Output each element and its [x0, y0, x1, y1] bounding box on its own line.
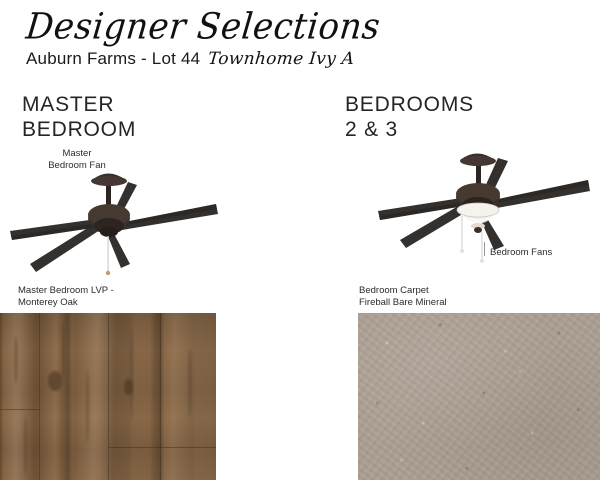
- callout-leader-line: [484, 242, 485, 256]
- page-header: Designer Selections Auburn Farms - Lot 4…: [0, 0, 600, 86]
- swatch-bedroom-carpet: [358, 313, 600, 480]
- caption-master-bedroom-lvp: Master Bedroom LVP - Monterey Oak: [18, 285, 114, 309]
- ceiling-fan-icon: [6, 160, 232, 275]
- caption-bedroom-carpet: Bedroom Carpet Fireball Bare Mineral: [359, 285, 447, 309]
- ceiling-fan-with-light-icon: [372, 142, 594, 264]
- page-title: Designer Selections: [24, 6, 382, 48]
- subtitle-community-lot: Auburn Farms - Lot 44: [26, 49, 200, 69]
- subtitle-row: Auburn Farms - Lot 44 Townhome Ivy A: [26, 49, 355, 69]
- section-heading-bedrooms-2-3: BEDROOMS 2 & 3: [345, 92, 474, 142]
- callout-bedroom-fans: Bedroom Fans: [490, 247, 552, 259]
- designer-selections-page: Designer Selections Auburn Farms - Lot 4…: [0, 0, 600, 480]
- subtitle-plan-name: Townhome Ivy A: [207, 49, 355, 69]
- swatch-master-bedroom-lvp: [0, 313, 216, 480]
- section-heading-master-bedroom: MASTER BEDROOM: [22, 92, 136, 142]
